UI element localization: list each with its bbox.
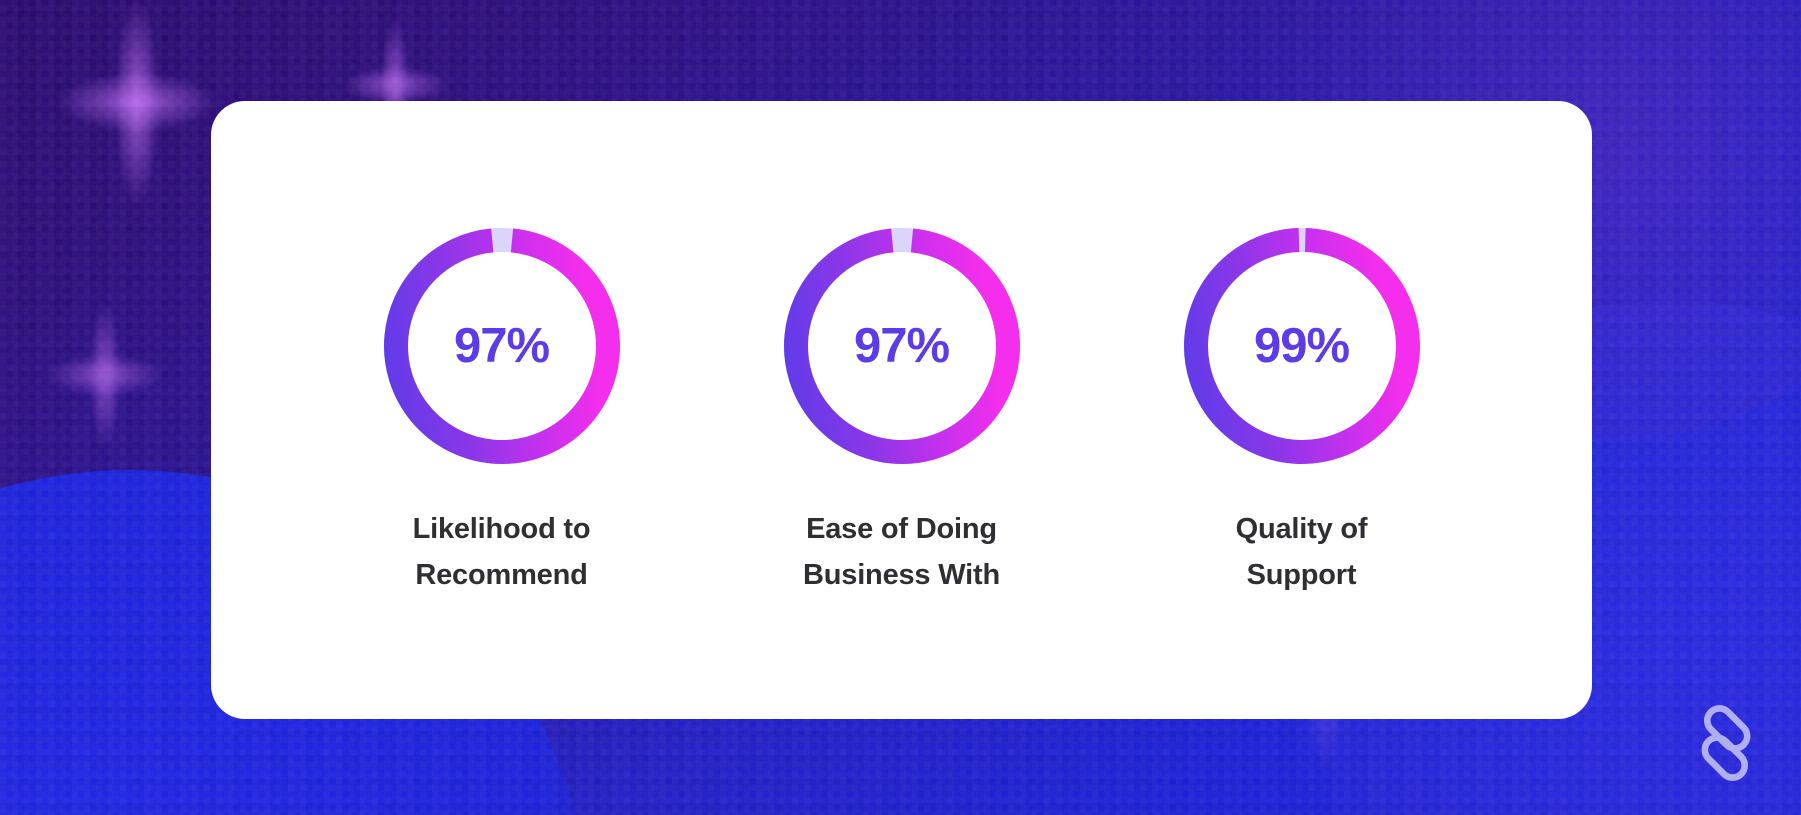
- metric-label-line-1: Quality of: [1236, 507, 1368, 553]
- metric-label-line-2: Support: [1236, 553, 1368, 599]
- metric-likelihood-to-recommend: 97% Likelihood to Recommend: [302, 222, 702, 599]
- donut-value-label: 97%: [378, 222, 626, 470]
- metric-label-line-2: Recommend: [413, 553, 591, 599]
- metric-label: Quality of Support: [1236, 507, 1368, 599]
- metric-label-line-1: Likelihood to: [413, 507, 591, 553]
- metric-quality-of-support: 99% Quality of Support: [1102, 222, 1502, 599]
- stats-card: 97% Likelihood to Recommend: [211, 101, 1592, 719]
- metric-label: Likelihood to Recommend: [413, 507, 591, 599]
- donut-chart: 97%: [778, 222, 1026, 470]
- metric-ease-of-doing-business-with: 97% Ease of Doing Business With: [702, 222, 1102, 599]
- metric-label-line-2: Business With: [803, 553, 1000, 599]
- donut-chart: 99%: [1178, 222, 1426, 470]
- metric-label: Ease of Doing Business With: [803, 507, 1000, 599]
- donut-chart: 97%: [378, 222, 626, 470]
- donut-value-label: 99%: [1178, 222, 1426, 470]
- slide-canvas: 97% Likelihood to Recommend: [0, 0, 1801, 815]
- donut-value-label: 97%: [778, 222, 1026, 470]
- metric-label-line-1: Ease of Doing: [803, 507, 1000, 553]
- sparkle-star-icon: [20, 270, 190, 480]
- linked-arrows-logo-icon: [1687, 704, 1765, 782]
